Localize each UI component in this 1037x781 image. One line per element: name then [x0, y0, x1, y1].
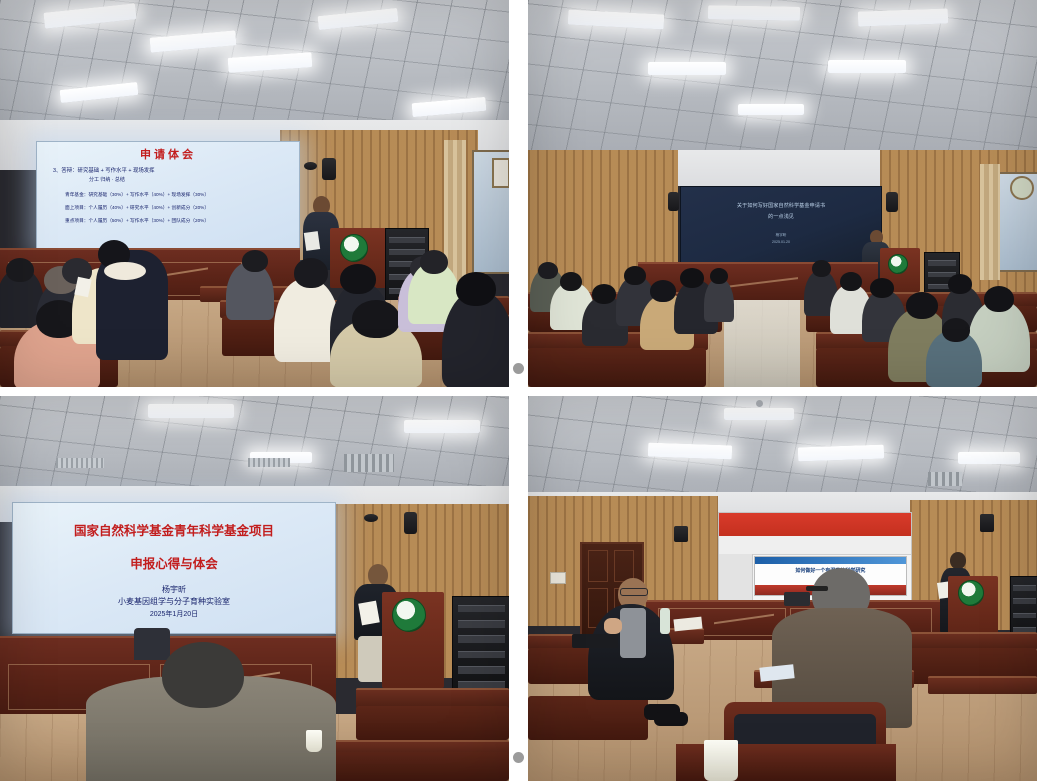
- audience-head: [456, 272, 496, 306]
- ppt-toolbar: [719, 536, 911, 555]
- hvac-vent: [248, 458, 290, 467]
- presenter-head-br: [950, 552, 966, 569]
- ceiling-bl: [0, 396, 509, 496]
- projection-screen-tr: 关于如何写好国家自然科学基金申请书 的一点浅见 杨宇昕 2025.01.20: [680, 186, 882, 266]
- slide-presenter-bl: 杨宇昕: [13, 585, 335, 596]
- podium-emblem-icon: [340, 234, 368, 262]
- bench-seat: [528, 696, 648, 740]
- chair-back-bl: [134, 628, 170, 660]
- ceiling-light: [404, 420, 480, 433]
- ceiling-light: [648, 443, 732, 460]
- ppt-ribbon: [719, 513, 911, 536]
- audience-head: [942, 318, 970, 342]
- wall-speaker-icon: [364, 514, 378, 522]
- slide-line-3: 青年基金：研究基础（30%）+ 写作水平（40%）+ 现场发挥（30%）: [37, 192, 299, 198]
- wall-frame-tl: [492, 158, 509, 188]
- slide-line-5: 重点项目：个人履历（50%）+ 写作水平（30%）+ 团队成分（20%）: [37, 218, 299, 224]
- audience-head: [870, 278, 894, 298]
- wall-speaker-icon: [404, 512, 417, 534]
- ppt-slide-header: [755, 557, 907, 563]
- podium-emblem-icon: [888, 254, 908, 274]
- presenter-notes-bl: [358, 601, 380, 626]
- audience-head: [538, 262, 558, 279]
- audience-head: [812, 260, 831, 277]
- foreground-attendee-head-bl: [162, 642, 244, 708]
- audience-head: [560, 272, 582, 291]
- ceiling-light: [798, 445, 884, 462]
- slide-line-4: 面上项目：个人履历（40%）+ 研究水平（40%）+ 创新成分（20%）: [37, 205, 299, 211]
- wall-speaker-icon: [322, 158, 336, 180]
- presenter-notes-tl: [304, 231, 320, 251]
- bench-row: [928, 676, 1037, 694]
- slide-presenter-tr: 杨宇昕: [681, 233, 881, 238]
- wall-speaker-icon: [674, 526, 688, 542]
- ceiling-light: [148, 404, 234, 418]
- paper-cup: [704, 740, 738, 781]
- lecture-hall-scene-tr: 关于如何写好国家自然科学基金申请书 的一点浅见 杨宇昕 2025.01.20: [528, 0, 1037, 387]
- wall-switch-icon[interactable]: [550, 572, 566, 584]
- projection-screen-bl: 国家自然科学基金青年科学基金项目 申报心得与体会 杨宇昕 小麦基因组学与分子育种…: [12, 502, 336, 634]
- gutter-handle-upper[interactable]: [513, 363, 524, 374]
- wall-speaker-icon: [980, 514, 994, 532]
- ceiling-light: [828, 60, 906, 73]
- audience-head: [680, 268, 704, 288]
- bench-seat: [356, 706, 509, 740]
- audience-head: [624, 266, 646, 285]
- wall-speaker-icon: [886, 192, 898, 212]
- hvac-vent: [56, 458, 104, 468]
- slide-subtitle-bl: 申报心得与体会: [13, 556, 335, 573]
- photo-collage: 申请体会 3、答辩：研究基础 + 写作水平 + 现场发挥 分工 归纳 · 总结 …: [0, 0, 1037, 781]
- wall-speaker-icon: [668, 192, 679, 211]
- bench-seat: [528, 348, 706, 387]
- audience-head: [948, 274, 972, 294]
- audience-head: [352, 300, 400, 338]
- ceiling-light: [738, 104, 804, 115]
- audience-head: [420, 250, 448, 274]
- aisle-highlight: [724, 300, 800, 387]
- attendee-shirt-left-br: [620, 608, 646, 658]
- gutter-handle-lower[interactable]: [513, 752, 524, 763]
- audience-member: [704, 278, 734, 322]
- photo-bottom-left[interactable]: 国家自然科学基金青年科学基金项目 申报心得与体会 杨宇昕 小麦基因组学与分子育种…: [0, 396, 509, 781]
- water-bottle: [660, 608, 670, 634]
- bench-row: [356, 688, 509, 708]
- slide-title-bl: 国家自然科学基金青年科学基金项目: [13, 523, 335, 540]
- slide-title-tr: 关于如何写好国家自然科学基金申请书: [681, 203, 881, 210]
- laptop-on-desk: [572, 634, 618, 648]
- slide-subtitle-tr: 的一点浅见: [681, 214, 881, 221]
- presenter-head-bl: [368, 564, 388, 586]
- podium-emblem-icon: [392, 598, 426, 632]
- attendee-shoe: [654, 712, 688, 726]
- equipment-rack-bl: [452, 596, 509, 694]
- ceiling-light: [858, 8, 948, 26]
- ceiling-light: [724, 408, 794, 420]
- audience-head: [906, 292, 938, 319]
- podium-emblem-icon: [958, 580, 984, 606]
- lecture-hall-scene-bl: 国家自然科学基金青年科学基金项目 申报心得与体会 杨宇昕 小麦基因组学与分子育种…: [0, 396, 509, 781]
- attendee-glasses-arm-icon: [806, 586, 828, 591]
- audience-head: [6, 258, 34, 282]
- attendee-hand-left-br: [604, 618, 622, 634]
- audience-head: [592, 284, 616, 304]
- slide-line-1: 3、答辩：研究基础 + 写作水平 + 现场发挥: [37, 168, 299, 175]
- audience-head: [242, 250, 268, 272]
- curtain-tr: [980, 164, 1000, 280]
- paper-cup: [306, 730, 322, 752]
- slide-affiliation-bl: 小麦基因组学与分子育种实验室: [13, 597, 335, 608]
- lecture-hall-scene-tl: 申请体会 3、答辩：研究基础 + 写作水平 + 现场发挥 分工 归纳 · 总结 …: [0, 0, 509, 387]
- attendee-glasses-icon: [620, 588, 648, 596]
- wall-emblem-tr: [1010, 176, 1034, 200]
- ceiling-light: [958, 452, 1020, 464]
- audience-head: [294, 258, 328, 288]
- photo-bottom-right[interactable]: 如何做好一个有深度的科学研究: [528, 396, 1037, 781]
- slide-date-bl: 2025年1月20日: [13, 610, 335, 619]
- slide-line-2: 分工 归纳 · 总结: [37, 177, 299, 184]
- audience-head: [840, 272, 862, 291]
- smoke-detector-icon: [756, 400, 763, 407]
- ceiling-light: [648, 62, 726, 75]
- ppt-slide-pane[interactable]: [719, 554, 753, 603]
- stage-monitor: [784, 592, 810, 606]
- audience-scarf: [104, 262, 146, 280]
- wall-speaker-icon: [304, 162, 317, 170]
- hvac-vent: [928, 472, 962, 486]
- ceiling-light: [708, 5, 800, 21]
- audience-head: [984, 286, 1014, 312]
- projection-screen-tl: 申请体会 3、答辩：研究基础 + 写作水平 + 现场发挥 分工 归纳 · 总结 …: [36, 141, 300, 250]
- audience-head: [710, 268, 728, 284]
- photo-top-left[interactable]: 申请体会 3、答辩：研究基础 + 写作水平 + 现场发挥 分工 归纳 · 总结 …: [0, 0, 509, 387]
- photo-top-right[interactable]: 关于如何写好国家自然科学基金申请书 的一点浅见 杨宇昕 2025.01.20: [528, 0, 1037, 387]
- slide-title-tl: 申请体会: [37, 148, 299, 163]
- slide-date-tr: 2025.01.20: [681, 240, 881, 245]
- audience-head: [340, 264, 376, 294]
- lecture-hall-scene-br: 如何做好一个有深度的科学研究: [528, 396, 1037, 781]
- hvac-vent: [344, 454, 394, 472]
- audience-head: [650, 280, 676, 302]
